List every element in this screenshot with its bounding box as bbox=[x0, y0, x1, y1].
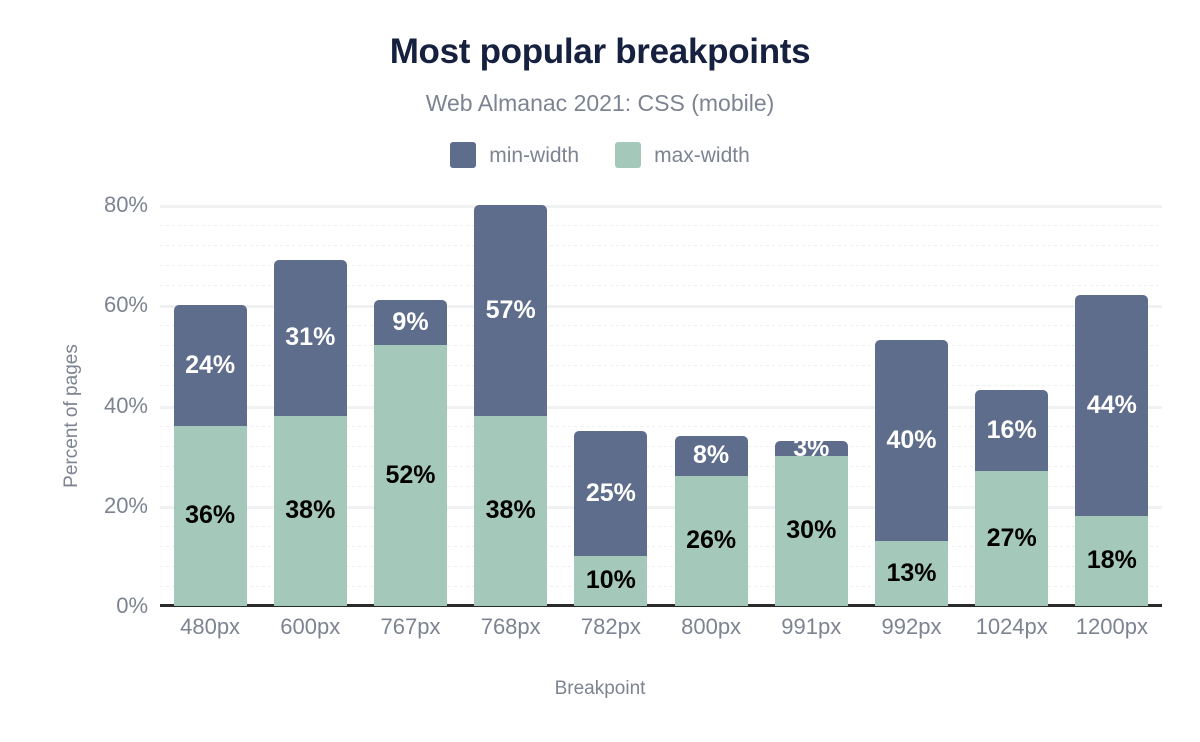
x-tick-label: 800px bbox=[661, 614, 761, 640]
bar-group[interactable]: 30%3% bbox=[775, 205, 848, 606]
bar-segment-max-width[interactable]: 52% bbox=[374, 345, 447, 606]
bar-segment-max-width[interactable]: 18% bbox=[1075, 516, 1148, 606]
bar-segment-max-width[interactable]: 30% bbox=[775, 456, 848, 606]
bar-value-label: 25% bbox=[586, 481, 636, 506]
y-tick-label: 80% bbox=[28, 192, 148, 218]
y-tick-label: 60% bbox=[28, 292, 148, 318]
bar-segment-min-width[interactable]: 31% bbox=[274, 260, 347, 415]
chart-title: Most popular breakpoints bbox=[0, 32, 1200, 72]
chart-subtitle: Web Almanac 2021: CSS (mobile) bbox=[0, 90, 1200, 117]
bar-group[interactable]: 52%9% bbox=[374, 205, 447, 606]
bar-segment-min-width[interactable]: 8% bbox=[675, 436, 748, 476]
bar-segment-min-width[interactable]: 9% bbox=[374, 300, 447, 345]
x-tick-label: 600px bbox=[260, 614, 360, 640]
bar-group[interactable]: 38%31% bbox=[274, 205, 347, 606]
bar-value-label: 27% bbox=[987, 526, 1037, 551]
y-tick-label: 20% bbox=[28, 493, 148, 519]
x-tick-label: 480px bbox=[160, 614, 260, 640]
bar-segment-max-width[interactable]: 38% bbox=[274, 416, 347, 606]
x-tick-label: 992px bbox=[861, 614, 961, 640]
y-axis-title: Percent of pages bbox=[61, 326, 83, 506]
x-tick-label: 782px bbox=[561, 614, 661, 640]
bar-value-label: 52% bbox=[385, 463, 435, 488]
bar-group[interactable]: 18%44% bbox=[1075, 205, 1148, 606]
bar-value-label: 36% bbox=[185, 503, 235, 528]
bar-value-label: 57% bbox=[486, 298, 536, 323]
bar-value-label: 40% bbox=[886, 428, 936, 453]
bar-segment-min-width[interactable]: 40% bbox=[875, 340, 948, 541]
bar-segment-max-width[interactable]: 26% bbox=[675, 476, 748, 606]
legend-label: min-width bbox=[489, 145, 579, 166]
bar-value-label: 9% bbox=[392, 310, 428, 335]
bar-value-label: 18% bbox=[1087, 548, 1137, 573]
bar-value-label: 8% bbox=[693, 443, 729, 468]
y-tick-label: 40% bbox=[28, 393, 148, 419]
bar-segment-min-width[interactable]: 24% bbox=[174, 305, 247, 425]
bar-segment-max-width[interactable]: 13% bbox=[875, 541, 948, 606]
bar-value-label: 44% bbox=[1087, 393, 1137, 418]
bar-group[interactable]: 27%16% bbox=[975, 205, 1048, 606]
bar-group[interactable]: 10%25% bbox=[574, 205, 647, 606]
legend-label: max-width bbox=[654, 145, 750, 166]
bar-value-label: 24% bbox=[185, 353, 235, 378]
bar-segment-min-width[interactable]: 16% bbox=[975, 390, 1048, 470]
legend-swatch-min-width bbox=[450, 142, 476, 168]
bar-value-label: 38% bbox=[486, 498, 536, 523]
chart-legend: min-widthmax-width bbox=[0, 142, 1200, 168]
bar-segment-max-width[interactable]: 38% bbox=[474, 416, 547, 606]
bar-group[interactable]: 38%57% bbox=[474, 205, 547, 606]
x-axis-title: Breakpoint bbox=[0, 678, 1200, 700]
bar-value-label: 31% bbox=[285, 325, 335, 350]
bar-segment-max-width[interactable]: 27% bbox=[975, 471, 1048, 606]
bar-group[interactable]: 26%8% bbox=[675, 205, 748, 606]
bar-segment-min-width[interactable]: 3% bbox=[775, 441, 848, 456]
y-tick-label: 0% bbox=[28, 593, 148, 619]
legend-item-max-width[interactable]: max-width bbox=[615, 142, 750, 168]
x-tick-label: 1024px bbox=[962, 614, 1062, 640]
x-tick-label: 768px bbox=[461, 614, 561, 640]
x-tick-label: 1200px bbox=[1062, 614, 1162, 640]
bar-segment-min-width[interactable]: 25% bbox=[574, 431, 647, 556]
bar-value-label: 16% bbox=[987, 418, 1037, 443]
legend-swatch-max-width bbox=[615, 142, 641, 168]
x-tick-label: 767px bbox=[360, 614, 460, 640]
legend-item-min-width[interactable]: min-width bbox=[450, 142, 579, 168]
bar-group[interactable]: 13%40% bbox=[875, 205, 948, 606]
bar-value-label: 10% bbox=[586, 568, 636, 593]
bar-value-label: 30% bbox=[786, 518, 836, 543]
bar-value-label: 38% bbox=[285, 498, 335, 523]
bar-segment-max-width[interactable]: 36% bbox=[174, 426, 247, 606]
chart-container: Most popular breakpoints Web Almanac 202… bbox=[0, 0, 1200, 742]
x-tick-label: 991px bbox=[761, 614, 861, 640]
bar-value-label: 3% bbox=[793, 436, 829, 461]
bar-segment-min-width[interactable]: 44% bbox=[1075, 295, 1148, 516]
bar-group[interactable]: 36%24% bbox=[174, 205, 247, 606]
bar-segment-min-width[interactable]: 57% bbox=[474, 205, 547, 416]
bar-value-label: 13% bbox=[886, 561, 936, 586]
bar-value-label: 26% bbox=[686, 528, 736, 553]
bar-segment-max-width[interactable]: 10% bbox=[574, 556, 647, 606]
bars-layer: 36%24%38%31%52%9%38%57%10%25%26%8%30%3%1… bbox=[160, 205, 1162, 606]
